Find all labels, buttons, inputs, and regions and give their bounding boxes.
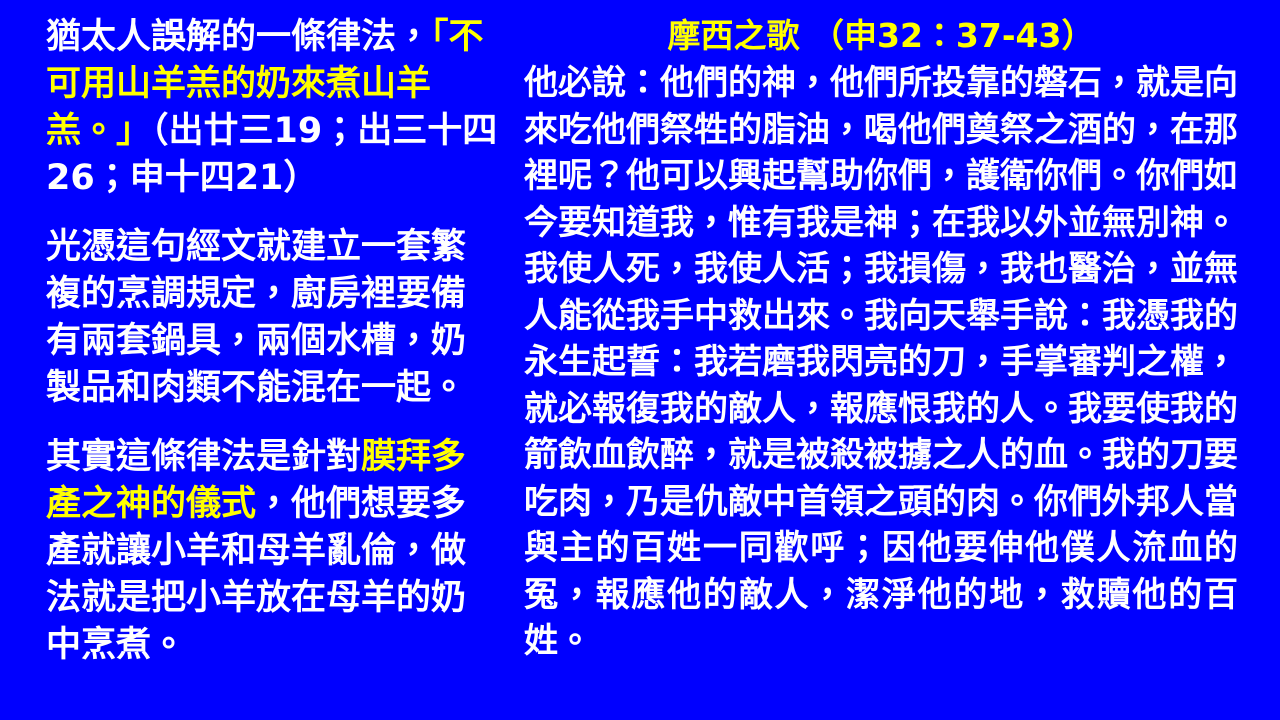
text-segment-intro: 猶太人誤解的一條律法，	[46, 17, 431, 57]
left-column: 猶太人誤解的一條律法，「不可用山羊羔的奶來煮山羊羔。」（出廿三19；出三十四26…	[46, 14, 498, 708]
text-segment-kosher-body: 光憑這句經文就建立一套繁複的烹調規定，廚房裡要備有兩套鍋具，兩個水槽，奶製品和肉…	[46, 227, 466, 408]
paragraph-law-misunderstood: 猶太人誤解的一條律法，「不可用山羊羔的奶來煮山羊羔。」（出廿三19；出三十四26…	[46, 14, 498, 202]
paragraph-fertility-cult: 其實這條律法是針對膜拜多產之神的儀式，他們想要多產就讓小羊和母羊亂倫，做法就是把…	[46, 434, 498, 669]
scripture-body: 他必說：他們的神，他們所投靠的磐石，就是向來吃他們祭牲的脂油，喝他們奠祭之酒的，…	[524, 60, 1238, 665]
text-segment-cult-intro: 其實這條律法是針對	[46, 437, 361, 477]
paragraph-kosher-rules: 光憑這句經文就建立一套繁複的烹調規定，廚房裡要備有兩套鍋具，兩個水槽，奶製品和肉…	[46, 224, 498, 412]
slide-root: 猶太人誤解的一條律法，「不可用山羊羔的奶來煮山羊羔。」（出廿三19；出三十四26…	[0, 0, 1280, 720]
scripture-title: 摩西之歌 （申32：37-43）	[524, 14, 1238, 58]
right-column: 摩西之歌 （申32：37-43） 他必說：他們的神，他們所投靠的磐石，就是向來吃…	[524, 14, 1238, 708]
